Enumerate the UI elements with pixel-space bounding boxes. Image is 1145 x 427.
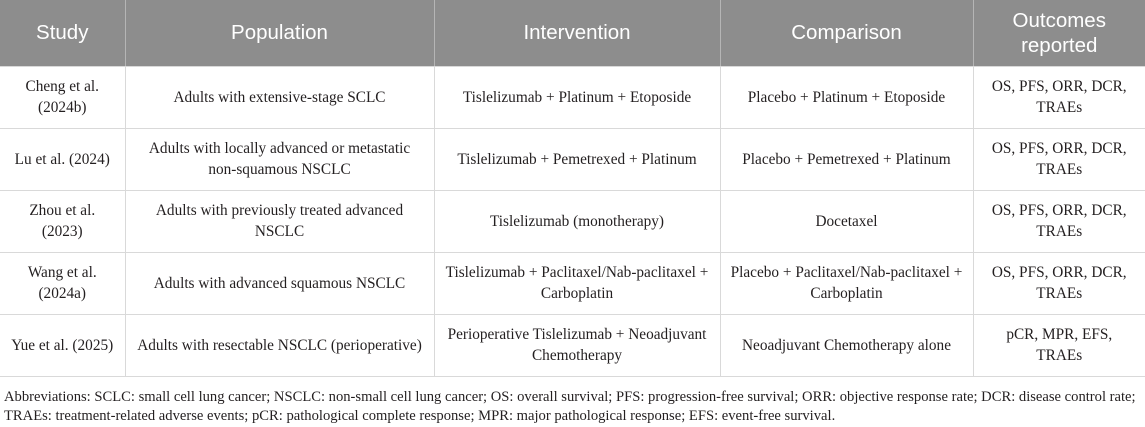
- cell-study: Zhou et al. (2023): [0, 190, 125, 252]
- table-header-row: Study Population Intervention Comparison…: [0, 0, 1145, 66]
- cell-intervention: Tislelizumab + Pemetrexed + Platinum: [434, 128, 720, 190]
- study-characteristics-table: Study Population Intervention Comparison…: [0, 0, 1145, 377]
- table-footnote: Abbreviations: SCLC: small cell lung can…: [0, 377, 1145, 427]
- cell-study: Lu et al. (2024): [0, 128, 125, 190]
- footnote-line-1: Abbreviations: SCLC: small cell lung can…: [4, 388, 1141, 408]
- table-row: Zhou et al. (2023) Adults with previousl…: [0, 190, 1145, 252]
- cell-comparison: Docetaxel: [720, 190, 973, 252]
- column-header-comparison: Comparison: [720, 0, 973, 66]
- column-header-population: Population: [125, 0, 434, 66]
- cell-outcomes: OS, PFS, ORR, DCR, TRAEs: [973, 252, 1145, 314]
- cell-intervention: Tislelizumab (monotherapy): [434, 190, 720, 252]
- footnote-line-2: TRAEs: treatment-related adverse events;…: [4, 407, 1141, 427]
- column-header-outcomes: Outcomes reported: [973, 0, 1145, 66]
- cell-study: Wang et al. (2024a): [0, 252, 125, 314]
- cell-population: Adults with extensive-stage SCLC: [125, 66, 434, 128]
- cell-comparison: Placebo + Pemetrexed + Platinum: [720, 128, 973, 190]
- table-row: Yue et al. (2025) Adults with resectable…: [0, 314, 1145, 376]
- cell-intervention: Tislelizumab + Paclitaxel/Nab-paclitaxel…: [434, 252, 720, 314]
- table-header: Study Population Intervention Comparison…: [0, 0, 1145, 66]
- cell-study: Yue et al. (2025): [0, 314, 125, 376]
- cell-comparison: Neoadjuvant Chemotherapy alone: [720, 314, 973, 376]
- table-page: Study Population Intervention Comparison…: [0, 0, 1145, 412]
- table-body: Cheng et al. (2024b) Adults with extensi…: [0, 66, 1145, 376]
- cell-population: Adults with previously treated advanced …: [125, 190, 434, 252]
- cell-population: Adults with resectable NSCLC (perioperat…: [125, 314, 434, 376]
- cell-intervention: Tislelizumab + Platinum + Etoposide: [434, 66, 720, 128]
- cell-intervention: Perioperative Tislelizumab + Neoadjuvant…: [434, 314, 720, 376]
- column-header-intervention: Intervention: [434, 0, 720, 66]
- cell-comparison: Placebo + Platinum + Etoposide: [720, 66, 973, 128]
- cell-outcomes: pCR, MPR, EFS, TRAEs: [973, 314, 1145, 376]
- table-row: Wang et al. (2024a) Adults with advanced…: [0, 252, 1145, 314]
- cell-comparison: Placebo + Paclitaxel/Nab-paclitaxel + Ca…: [720, 252, 973, 314]
- cell-outcomes: OS, PFS, ORR, DCR, TRAEs: [973, 190, 1145, 252]
- column-header-study: Study: [0, 0, 125, 66]
- table-row: Cheng et al. (2024b) Adults with extensi…: [0, 66, 1145, 128]
- cell-population: Adults with locally advanced or metastat…: [125, 128, 434, 190]
- cell-outcomes: OS, PFS, ORR, DCR, TRAEs: [973, 128, 1145, 190]
- table-row: Lu et al. (2024) Adults with locally adv…: [0, 128, 1145, 190]
- cell-population: Adults with advanced squamous NSCLC: [125, 252, 434, 314]
- cell-study: Cheng et al. (2024b): [0, 66, 125, 128]
- cell-outcomes: OS, PFS, ORR, DCR, TRAEs: [973, 66, 1145, 128]
